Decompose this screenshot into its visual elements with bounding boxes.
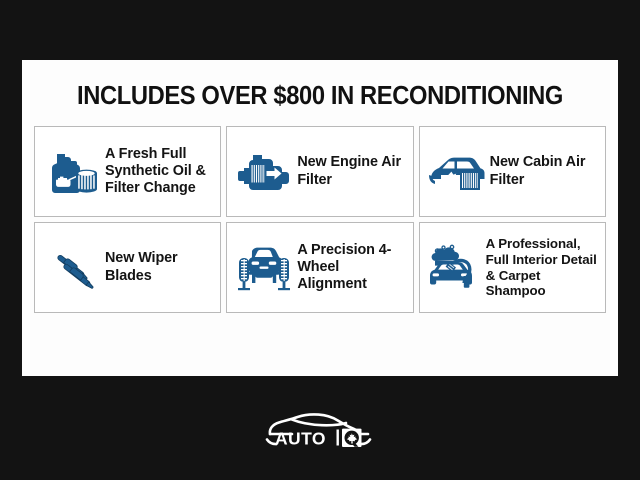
white-content-panel: INCLUDES OVER $800 IN RECONDITIONING [22, 60, 618, 376]
feature-card-engine-air-filter: New Engine Air Filter [226, 126, 413, 217]
wheel-alignment-icon [233, 237, 295, 299]
promotional-graphic: INCLUDES OVER $800 IN RECONDITIONING [0, 0, 640, 480]
engine-air-filter-icon [233, 141, 295, 203]
feature-grid: A Fresh Full Synthetic Oil & Filter Chan… [34, 126, 606, 313]
feature-card-interior-detail: A Professional, Full Interior Detail & C… [419, 222, 606, 313]
oil-jug-and-filter-icon [41, 141, 103, 203]
logo-wordmark: AUTO [275, 429, 326, 449]
feature-label: New Engine Air Filter [295, 154, 408, 188]
cabin-air-filter-icon [426, 141, 488, 203]
logo-q-badge [342, 429, 362, 447]
feature-label: A Precision 4-Wheel Alignment [295, 242, 408, 293]
feature-card-oil-change: A Fresh Full Synthetic Oil & Filter Chan… [34, 126, 221, 217]
feature-card-wiper-blades: New Wiper Blades [34, 222, 221, 313]
feature-card-wheel-alignment: A Precision 4-Wheel Alignment [226, 222, 413, 313]
auto-iq-logo: AUTO [0, 398, 640, 458]
feature-label: New Wiper Blades [103, 250, 216, 284]
feature-label: New Cabin Air Filter [488, 154, 601, 188]
feature-card-cabin-air-filter: New Cabin Air Filter [419, 126, 606, 217]
wiper-blades-icon [41, 237, 103, 299]
interior-detail-icon [426, 237, 484, 299]
page-title: INCLUDES OVER $800 IN RECONDITIONING [43, 82, 597, 111]
feature-label: A Professional, Full Interior Detail & C… [484, 236, 601, 299]
logo-divider [337, 430, 339, 446]
feature-label: A Fresh Full Synthetic Oil & Filter Chan… [103, 146, 216, 197]
